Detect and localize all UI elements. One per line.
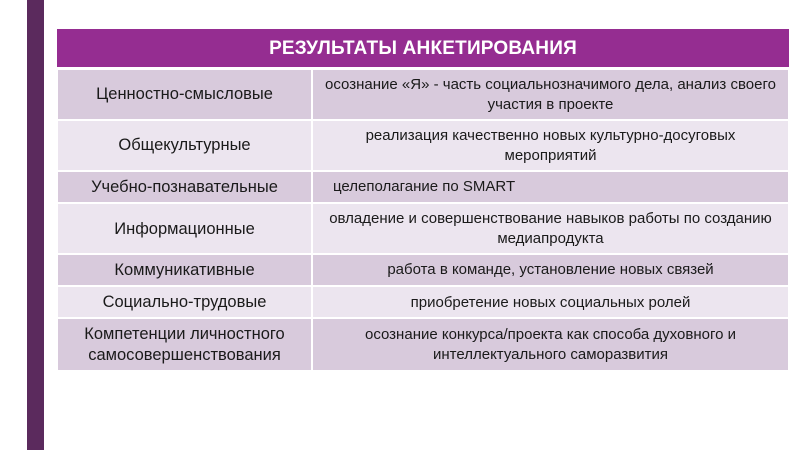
row-category: Ценностно-смысловые (57, 69, 312, 120)
row-description: овладение и совершенствование навыков ра… (312, 203, 789, 254)
row-description: осознание конкурса/проекта как способа д… (312, 318, 789, 370)
row-description: приобретение новых социальных ролей (312, 286, 789, 318)
table-row: Компетенции личностного самосовершенство… (57, 318, 789, 370)
table-row: Ценностно-смысловые осознание «Я» - част… (57, 69, 789, 120)
row-category: Информационные (57, 203, 312, 254)
row-category: Коммуникативные (57, 254, 312, 286)
page-title: РЕЗУЛЬТАТЫ АНКЕТИРОВАНИЯ (56, 28, 790, 68)
table-row: Социально-трудовые приобретение новых со… (57, 286, 789, 318)
table-row: Учебно-познавательные целеполагание по S… (57, 171, 789, 203)
results-table: РЕЗУЛЬТАТЫ АНКЕТИРОВАНИЯ Ценностно-смысл… (56, 28, 790, 372)
row-description: реализация качественно новых культурно-д… (312, 120, 789, 171)
table-row: Общекультурные реализация качественно но… (57, 120, 789, 171)
left-accent-bar (27, 0, 44, 450)
results-table-container: РЕЗУЛЬТАТЫ АНКЕТИРОВАНИЯ Ценностно-смысл… (56, 28, 788, 438)
row-category: Общекультурные (57, 120, 312, 171)
row-category: Социально-трудовые (57, 286, 312, 318)
results-table-body: Ценностно-смысловые осознание «Я» - част… (57, 69, 789, 371)
table-row: Информационные овладение и совершенствов… (57, 203, 789, 254)
row-description: работа в команде, установление новых свя… (312, 254, 789, 286)
row-category: Учебно-познавательные (57, 171, 312, 203)
row-description: целеполагание по SMART (312, 171, 789, 203)
row-description: осознание «Я» - часть социальнозначимого… (312, 69, 789, 120)
table-row: Коммуникативные работа в команде, устано… (57, 254, 789, 286)
row-category: Компетенции личностного самосовершенство… (57, 318, 312, 370)
slide-canvas: РЕЗУЛЬТАТЫ АНКЕТИРОВАНИЯ Ценностно-смысл… (0, 0, 800, 450)
